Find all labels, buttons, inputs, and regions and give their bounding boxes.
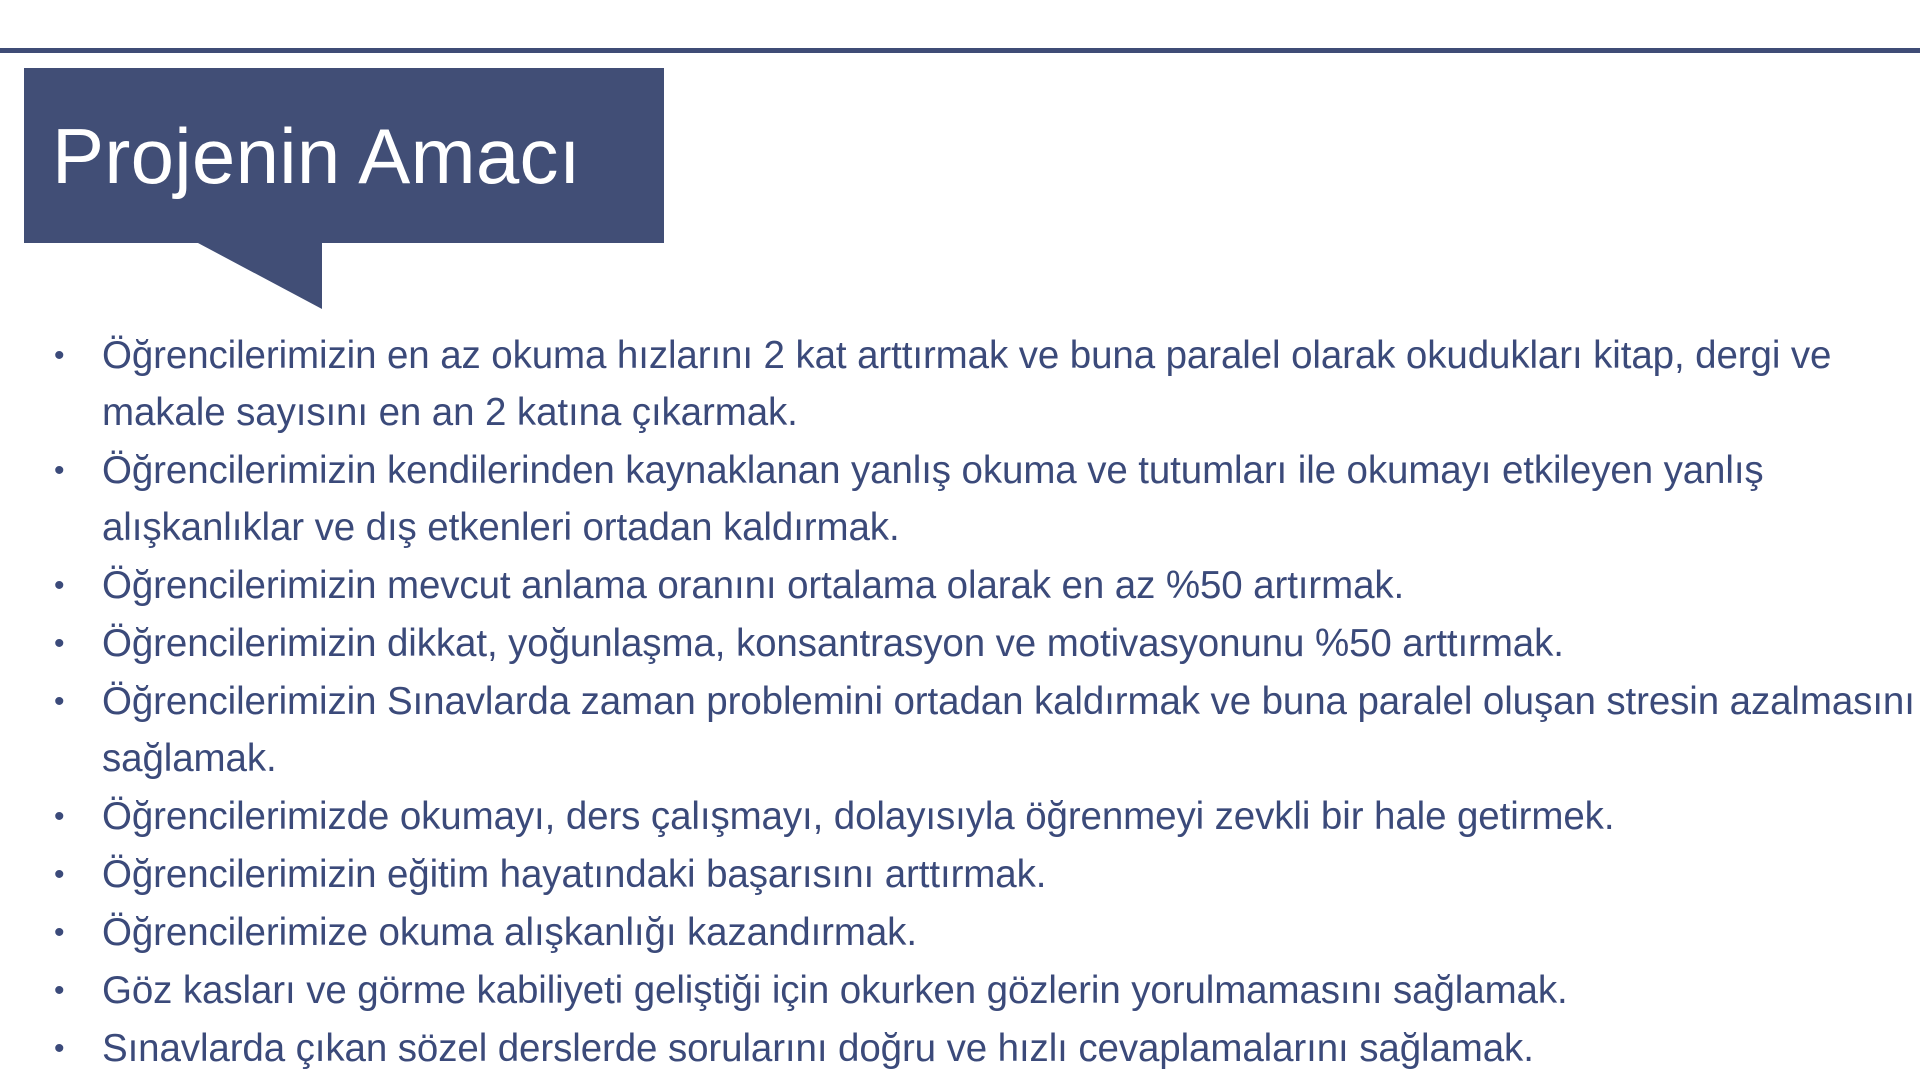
- bullet-point-icon: •: [54, 327, 74, 384]
- bullet-point-icon: •: [54, 788, 74, 845]
- list-item-text: Öğrencilerimizin eğitim hayatındaki başa…: [102, 846, 1915, 903]
- callout-tail-shape: [198, 243, 322, 309]
- list-item-text: Öğrencilerimizin mevcut anlama oranını o…: [102, 557, 1915, 614]
- list-item: • Öğrencilerimizin dikkat, yoğunlaşma, k…: [40, 615, 1915, 672]
- list-item-text: Öğrencilerimizin Sınavlarda zaman proble…: [102, 673, 1915, 787]
- list-item-text: Göz kasları ve görme kabiliyeti geliştiğ…: [102, 962, 1915, 1019]
- list-item-text: Öğrencilerimizde okumayı, ders çalışmayı…: [102, 788, 1915, 845]
- bullet-point-icon: •: [54, 962, 74, 1019]
- list-item: • Sınavlarda çıkan sözel derslerde sorul…: [40, 1020, 1915, 1077]
- list-item: • Öğrencilerimizin en az okuma hızlarını…: [40, 327, 1915, 441]
- bullet-point-icon: •: [54, 846, 74, 903]
- list-item: • Göz kasları ve görme kabiliyeti gelişt…: [40, 962, 1915, 1019]
- list-item-text: Sınavlarda çıkan sözel derslerde sorular…: [102, 1020, 1915, 1077]
- list-item-text: Öğrencilerimizin en az okuma hızlarını 2…: [102, 327, 1915, 441]
- bullet-point-icon: •: [54, 442, 74, 499]
- bullet-point-icon: •: [54, 673, 74, 730]
- list-item: • Öğrencilerimizde okumayı, ders çalışma…: [40, 788, 1915, 845]
- list-item-text: Öğrencilerimizin kendilerinden kaynaklan…: [102, 442, 1915, 556]
- bullet-list: • Öğrencilerimizin en az okuma hızlarını…: [40, 327, 1915, 1078]
- top-divider-rule: [0, 48, 1920, 53]
- bullet-point-icon: •: [54, 904, 74, 961]
- list-item: • Öğrencilerimize okuma alışkanlığı kaza…: [40, 904, 1915, 961]
- list-item-text: Öğrencilerimizin dikkat, yoğunlaşma, kon…: [102, 615, 1915, 672]
- list-item: • Öğrencilerimizin kendilerinden kaynakl…: [40, 442, 1915, 556]
- list-item-text: Öğrencilerimize okuma alışkanlığı kazand…: [102, 904, 1915, 961]
- list-item: • Öğrencilerimizin Sınavlarda zaman prob…: [40, 673, 1915, 787]
- bullet-point-icon: •: [54, 615, 74, 672]
- list-item: • Öğrencilerimizin mevcut anlama oranını…: [40, 557, 1915, 614]
- list-item: • Öğrencilerimizin eğitim hayatındaki ba…: [40, 846, 1915, 903]
- title-callout: Projenin Amacı: [24, 68, 664, 243]
- presentation-slide: Projenin Amacı • Öğrencilerimizin en az …: [0, 0, 1920, 1080]
- title-banner: Projenin Amacı: [24, 68, 664, 243]
- bullet-point-icon: •: [54, 1020, 74, 1077]
- bullet-point-icon: •: [54, 557, 74, 614]
- slide-title: Projenin Amacı: [24, 117, 581, 195]
